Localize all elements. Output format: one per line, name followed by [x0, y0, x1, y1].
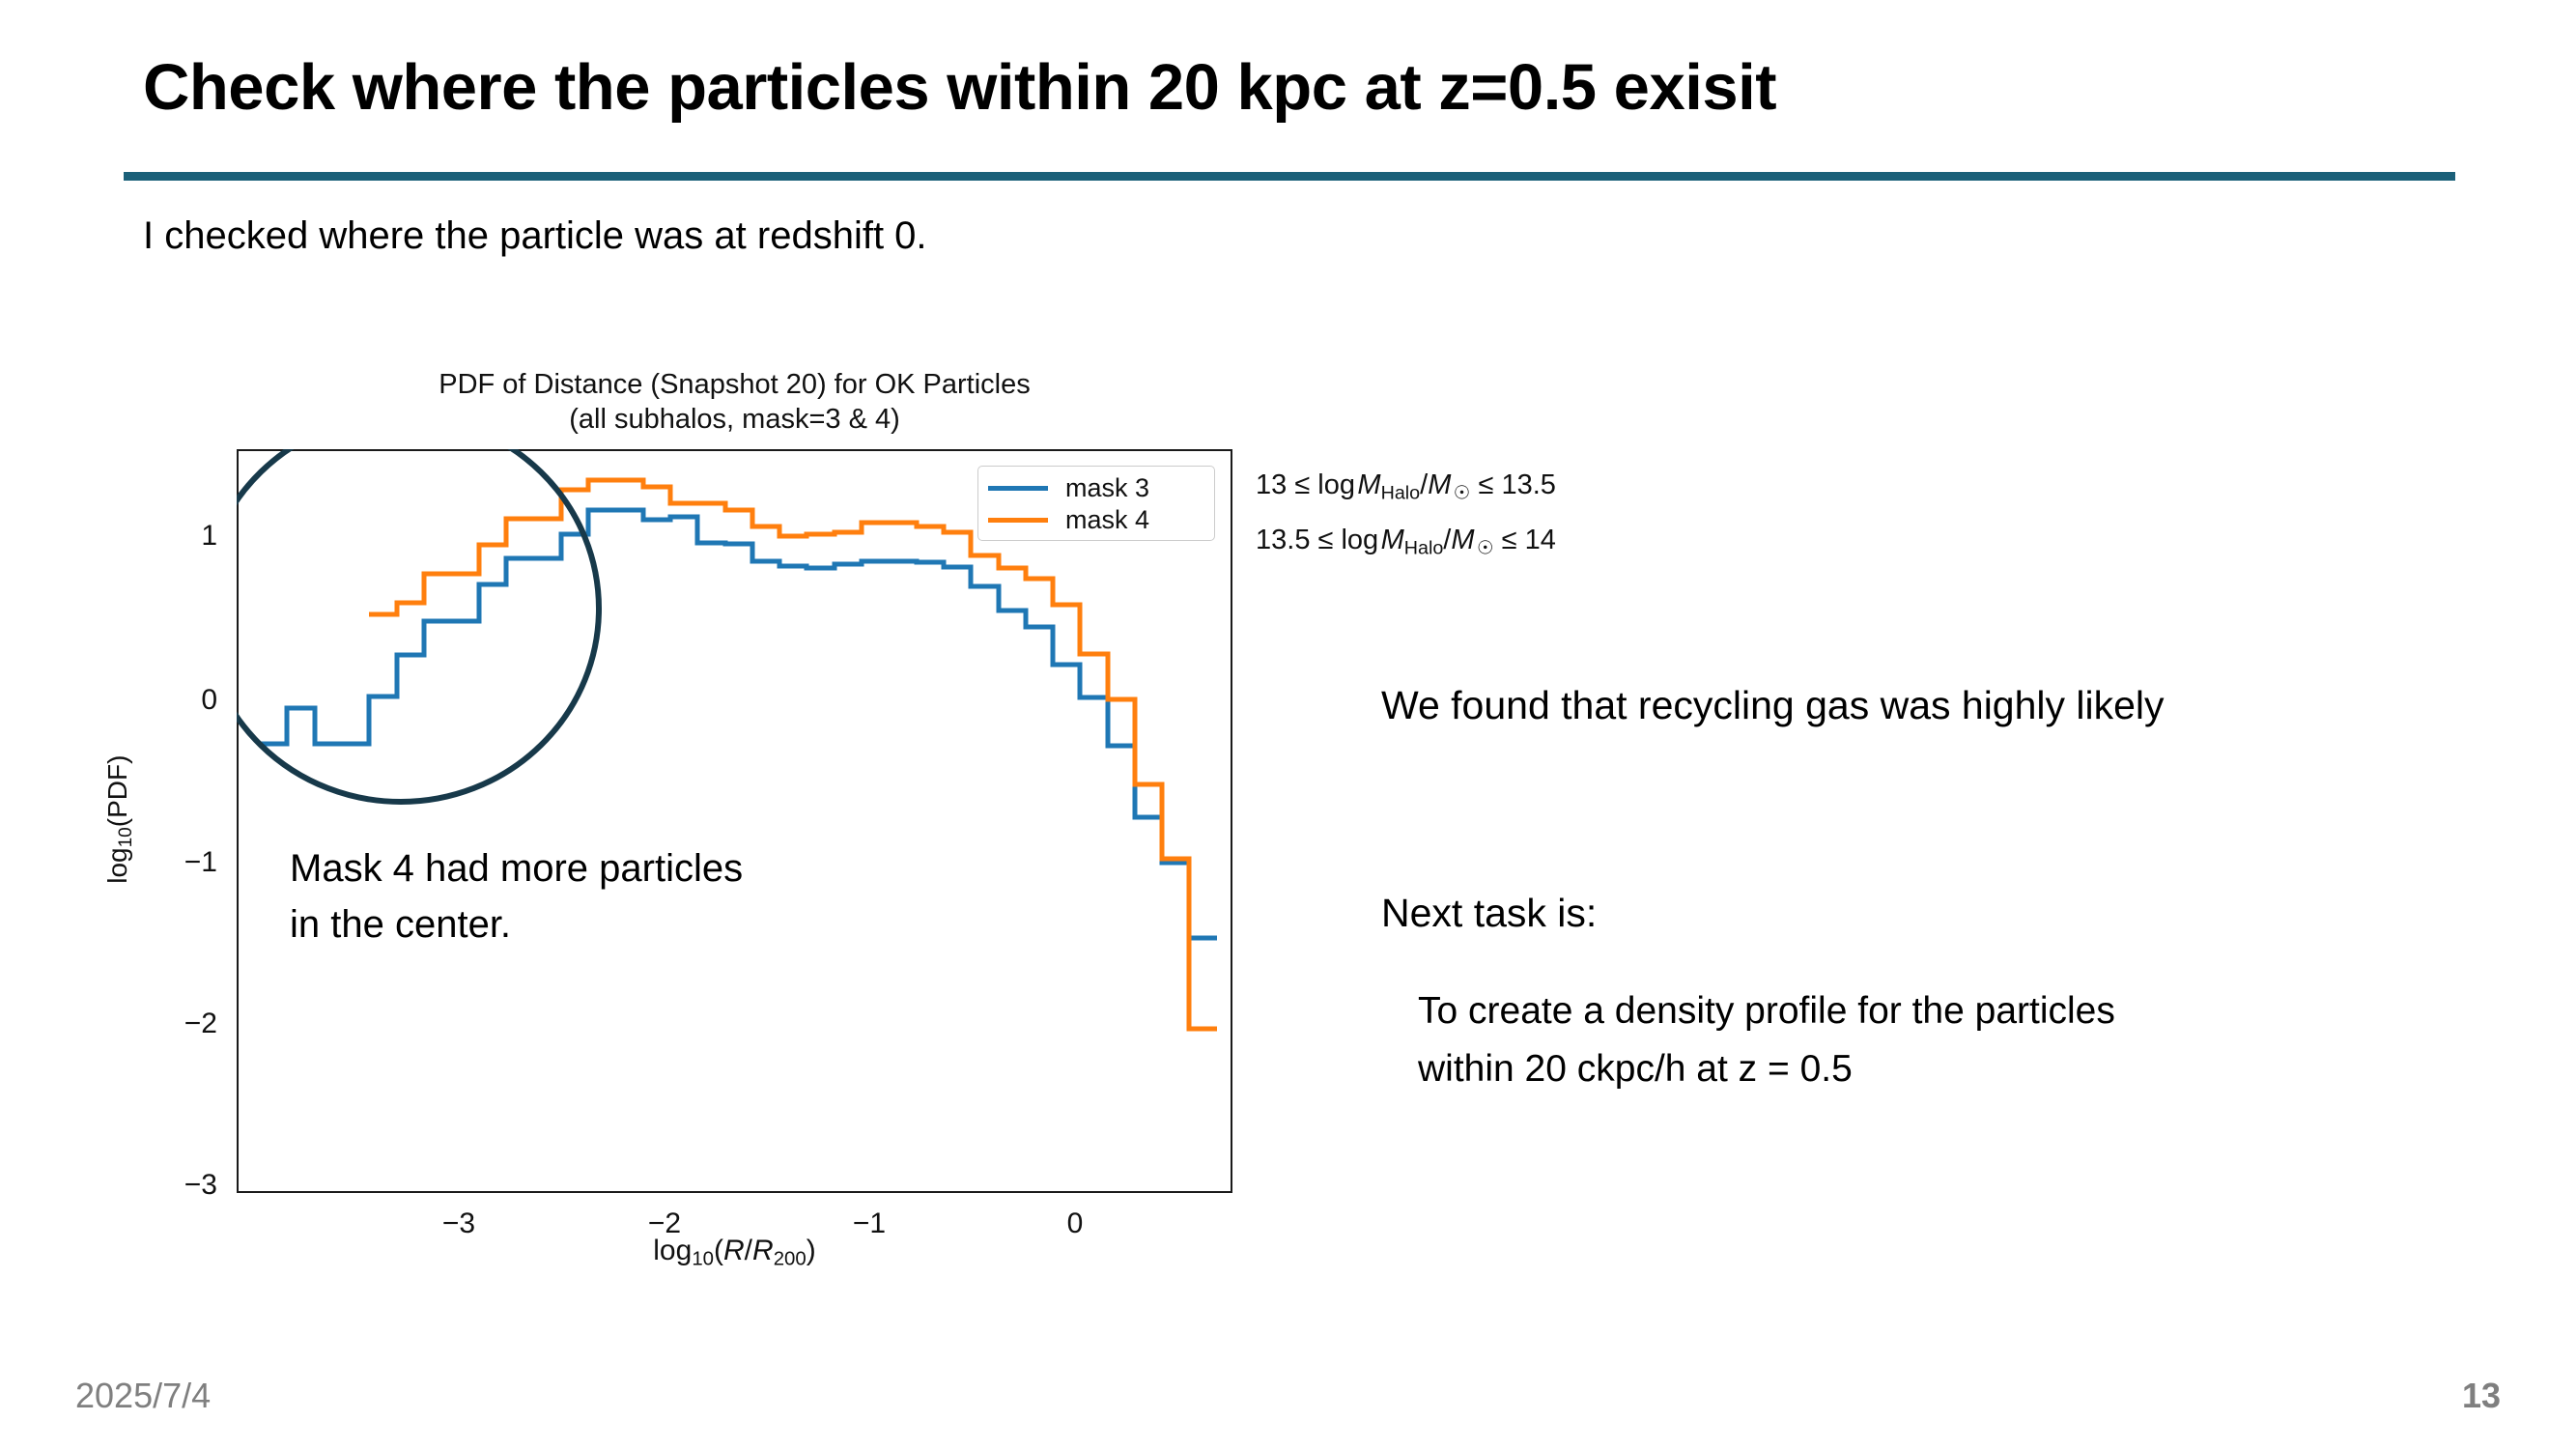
plot-canvas	[237, 449, 1232, 1193]
ytick-label-0: 0	[150, 684, 217, 717]
legend-label-mask-4: mask 4	[1065, 505, 1149, 535]
page-title: Check where the particles within 20 kpc …	[143, 50, 1776, 125]
legend-item-mask-4: mask 4	[988, 504, 1204, 536]
chart-title: PDF of Distance (Snapshot 20) for OK Par…	[237, 367, 1232, 437]
legend-label-mask-3: mask 3	[1065, 473, 1149, 503]
y-axis-label: log10(PDF)	[102, 665, 137, 974]
ytick-label-neg1: −1	[150, 846, 217, 879]
plot-annotation-line-2: in the center.	[290, 896, 743, 952]
intro-text: I checked where the particle was at reds…	[143, 214, 927, 258]
legend-item-mask-3: mask 3	[988, 472, 1204, 504]
x-axis-label: log10(R/R200)	[237, 1235, 1232, 1271]
next-task-line-1: To create a density profile for the part…	[1418, 982, 2115, 1040]
mass-range-annotations: 13 ≤ log MHalo/M ☉ ≤ 13.5 13.5 ≤ log MHa…	[1256, 462, 1556, 571]
footer-page-number: 13	[2462, 1376, 2501, 1416]
next-task-header: Next task is:	[1381, 891, 1597, 936]
finding-statement: We found that recycling gas was highly l…	[1381, 683, 2165, 728]
legend-swatch-mask-3	[988, 486, 1048, 491]
footer-date: 2025/7/4	[75, 1376, 211, 1416]
plot-annotation-line-1: Mask 4 had more particles	[290, 840, 743, 896]
pdf-distance-chart: PDF of Distance (Snapshot 20) for OK Par…	[0, 348, 1352, 1294]
ytick-label-1: 1	[150, 520, 217, 553]
chart-title-line-2: (all subhalos, mask=3 & 4)	[237, 402, 1232, 437]
ytick-label-neg3: −3	[150, 1169, 217, 1202]
title-underline-rule	[124, 172, 2455, 181]
plot-annotation-note: Mask 4 had more particles in the center.	[290, 840, 743, 952]
mass-range-mask-4: 13.5 ≤ log MHalo/M ☉ ≤ 14	[1256, 517, 1556, 572]
highlight-circle-annotation	[237, 449, 599, 802]
ytick-label-neg2: −2	[150, 1008, 217, 1040]
next-task-line-2: within 20 ckpc/h at z = 0.5	[1418, 1040, 2115, 1098]
legend-swatch-mask-4	[988, 518, 1048, 523]
chart-title-line-1: PDF of Distance (Snapshot 20) for OK Par…	[237, 367, 1232, 402]
chart-legend: mask 3 mask 4	[977, 466, 1215, 541]
mass-range-mask-3: 13 ≤ log MHalo/M ☉ ≤ 13.5	[1256, 462, 1556, 517]
next-task-description: To create a density profile for the part…	[1418, 982, 2115, 1098]
